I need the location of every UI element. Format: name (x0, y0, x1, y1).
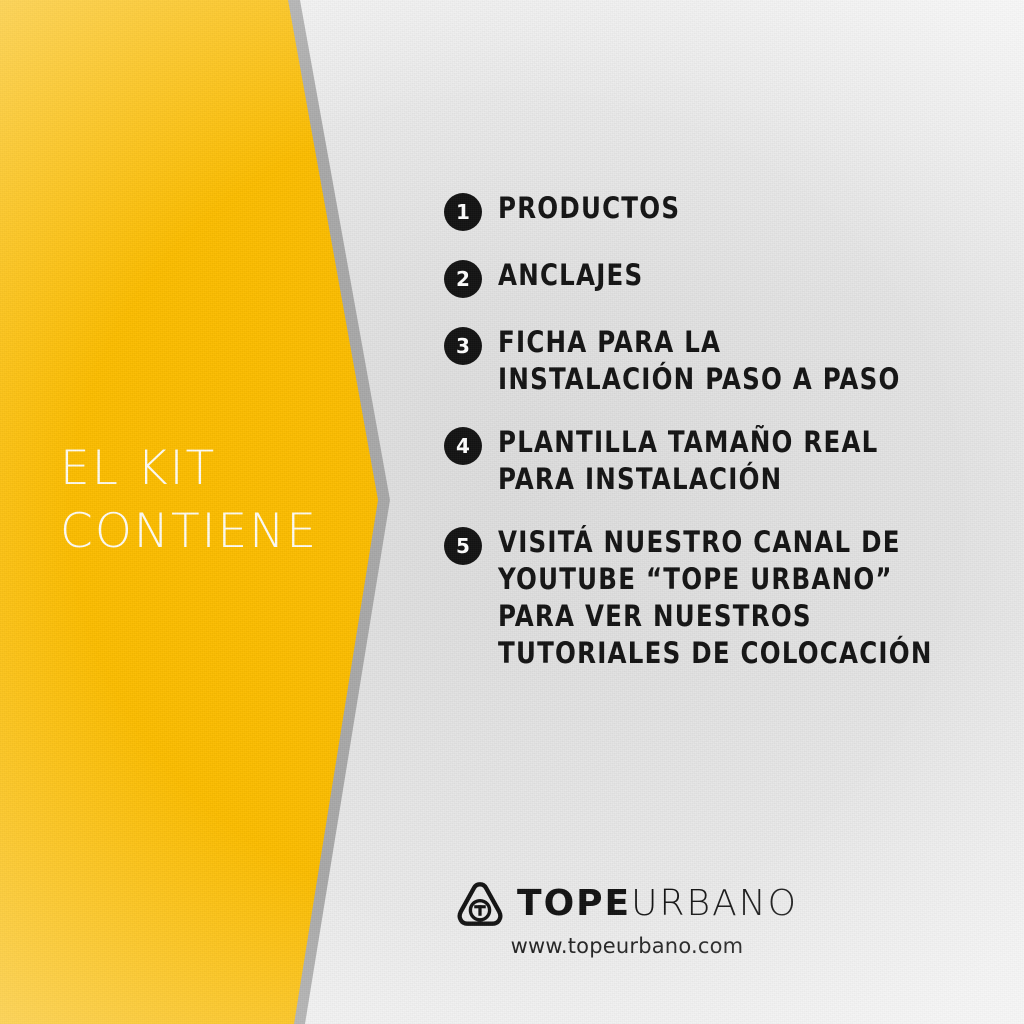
list-item-number-badge: 3 (444, 327, 482, 365)
list-item-label: FICHA PARA LA INSTALACIÓN PASO A PASO (498, 324, 901, 398)
brand-wordmark: TOPEURBANO (517, 884, 798, 924)
kit-contents-list: 1 PRODUCTOS 2 ANCLAJES 3 FICHA PARA LA I… (444, 190, 1004, 698)
list-item: 1 PRODUCTOS (444, 190, 1004, 231)
list-item-number-badge: 4 (444, 427, 482, 465)
brand-name-primary: TOPE (517, 883, 631, 924)
list-item: 5 VISITÁ NUESTRO CANAL DE YOUTUBE “TOPE … (444, 524, 1004, 672)
list-item: 2 ANCLAJES (444, 257, 1004, 298)
list-item-label: ANCLAJES (498, 257, 643, 294)
list-item: 4 PLANTILLA TAMAÑO REAL PARA INSTALACIÓN (444, 424, 1004, 498)
brand-website-url: www.topeurbano.com (511, 934, 744, 958)
list-item-label: VISITÁ NUESTRO CANAL DE YOUTUBE “TOPE UR… (498, 524, 933, 672)
brand-footer: TOPEURBANO www.topeurbano.com (0, 880, 1024, 958)
list-item: 3 FICHA PARA LA INSTALACIÓN PASO A PASO (444, 324, 1004, 398)
brand-name-secondary: URBANO (631, 883, 798, 924)
list-item-label: PLANTILLA TAMAÑO REAL PARA INSTALACIÓN (498, 424, 879, 498)
rounded-triangle-t-icon (456, 880, 504, 928)
list-item-number-badge: 1 (444, 193, 482, 231)
list-item-number-badge: 2 (444, 260, 482, 298)
page-title: EL KIT CONTIENE (60, 437, 360, 563)
poster-canvas: EL KIT CONTIENE 1 PRODUCTOS 2 ANCLAJES 3… (0, 0, 1024, 1024)
list-item-number-badge: 5 (444, 527, 482, 565)
brand-lockup: TOPEURBANO (456, 880, 798, 928)
list-item-label: PRODUCTOS (498, 190, 680, 227)
